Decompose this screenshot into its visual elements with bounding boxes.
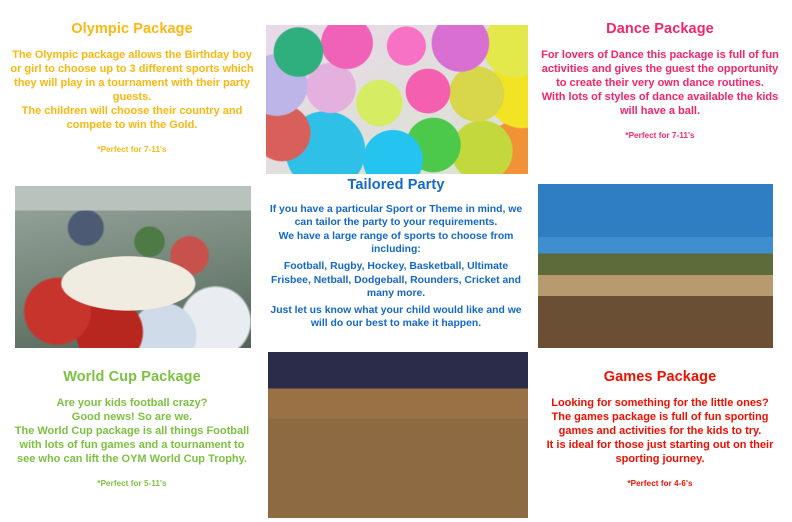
- balloons-photo-image: [266, 25, 528, 174]
- olympic-package-text: Olympic Package The Olympic package allo…: [0, 0, 264, 174]
- outdoor-sports-photo-image: [538, 184, 773, 348]
- balloons-photo: [266, 25, 528, 174]
- tailored-party-text: Tailored Party If you have a particular …: [264, 174, 528, 348]
- outdoor-photo-cell: [528, 174, 792, 348]
- dance-package-text: Dance Package For lovers of Dance this p…: [528, 0, 792, 174]
- kids-table-photo-image: [15, 186, 251, 348]
- dance-package-cell: Dance Package For lovers of Dance this p…: [528, 0, 792, 174]
- olympic-package-age-note: *Perfect for 7-11's: [97, 145, 166, 154]
- tailored-party-body-3: Just let us know what your child would l…: [264, 304, 528, 331]
- indoor-hockey-photo: [268, 352, 528, 518]
- games-package-text: Games Package Looking for something for …: [528, 348, 792, 522]
- dance-package-heading: Dance Package: [606, 22, 714, 38]
- tailored-party-heading: Tailored Party: [347, 178, 444, 194]
- dance-package-age-note: *Perfect for 7-11's: [625, 131, 694, 140]
- kids-table-photo: [15, 186, 251, 348]
- world-cup-package-text: World Cup Package Are your kids football…: [0, 348, 264, 522]
- world-cup-package-cell: World Cup Package Are your kids football…: [0, 348, 264, 522]
- tailored-party-body-1: If you have a particular Sport or Theme …: [264, 203, 528, 257]
- olympic-package-cell: Olympic Package The Olympic package allo…: [0, 0, 264, 174]
- indoor-hockey-photo-image: [268, 352, 528, 518]
- balloons-photo-cell: [264, 0, 528, 174]
- party-packages-poster: Olympic Package The Olympic package allo…: [0, 0, 792, 522]
- hockey-photo-cell: [264, 348, 528, 522]
- olympic-package-body: The Olympic package allows the Birthday …: [0, 49, 264, 133]
- games-package-body: Looking for something for the little one…: [528, 397, 792, 467]
- games-package-heading: Games Package: [604, 370, 717, 386]
- world-cup-package-age-note: *Perfect for 5-11's: [97, 479, 166, 488]
- tailored-party-cell: Tailored Party If you have a particular …: [264, 174, 528, 348]
- games-package-cell: Games Package Looking for something for …: [528, 348, 792, 522]
- games-package-age-note: *Perfect for 4-6's: [627, 479, 692, 488]
- kids-table-photo-cell: [0, 174, 264, 348]
- dance-package-body: For lovers of Dance this package is full…: [528, 49, 792, 119]
- outdoor-sports-photo: [538, 184, 773, 348]
- tailored-party-body-2: Football, Rugby, Hockey, Basketball, Ult…: [264, 260, 528, 301]
- olympic-package-heading: Olympic Package: [71, 22, 193, 38]
- world-cup-package-body: Are your kids football crazy? Good news!…: [0, 397, 264, 467]
- world-cup-package-heading: World Cup Package: [63, 370, 201, 386]
